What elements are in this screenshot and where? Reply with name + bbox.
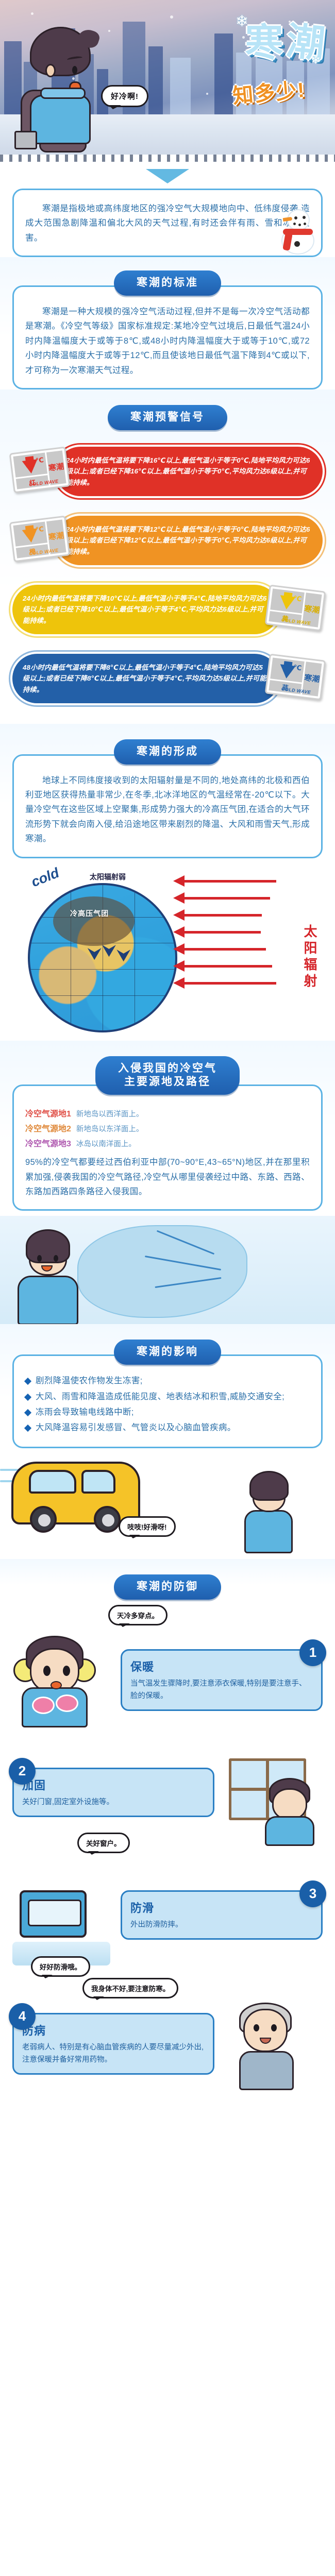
defense-section: 寒潮的防御: [0, 1559, 335, 1603]
defense-number-1: 1: [299, 1639, 326, 1666]
defense-speech-1: 天冷多穿点。: [108, 1605, 167, 1625]
impact-item-1: 剧烈降温使农作物发生冻害;: [25, 1374, 310, 1388]
source-value-1: 新地岛以西洋面上。: [76, 1108, 144, 1119]
defense-box-4: 4 防病 老弱病人、特别是有心脑血管疾病的人要尽量减少外出,注意保暖并备好常用药…: [12, 2013, 214, 2075]
footer-spacer: [0, 2096, 335, 2111]
standard-section: 寒潮的标准 寒潮是一种大规模的强冷空气活动过程,但并不是每一次冷空气活动都是寒潮…: [0, 257, 335, 389]
sources-section: 入侵我国的冷空气 主要源地及路径 冷空气源地1 新地岛以西洋面上。 冷空气源地2…: [0, 1041, 335, 1211]
defense-text-1: 当气温发生骤降时,要注意添衣保暖,特别是要注意手、脸的保暖。: [130, 1677, 313, 1702]
infographic-page: 好冷啊! ❄ 寒 潮 ❄ 知多少! 寒潮是指极地或高纬度地区的强冷空气大规模地向…: [0, 0, 335, 2111]
defense-title-4: 防病: [22, 2022, 205, 2038]
impact-item-3: 冻雨会导致输电线路中断;: [25, 1405, 310, 1419]
defense-item-4: 4 防病 老弱病人、特别是有心脑血管疾病的人要尽量减少外出,注意保暖并备好常用药…: [0, 1974, 335, 2096]
cold-label: cold: [29, 865, 61, 890]
boy-with-map-icon: [8, 1226, 86, 1324]
standard-heading: 寒潮的标准: [114, 270, 221, 296]
defense-item-3: 3 防滑 外出防滑防摔。 好好防滑哦。: [0, 1851, 335, 1974]
warning-card-blue: ℃ 寒潮 蓝 COLD WAVE 48小时内最低气温将要下降8℃以上,最低气温小…: [12, 654, 323, 715]
intro-card: 寒潮是指极地或高纬度地区的强冷空气大规模地向中、低纬度侵袭,造成大范围急剧降温和…: [12, 189, 323, 257]
warning-card-orange: ℃ 寒潮 橙 COLD WAVE 24小时内最低气温将要下降12℃以上,最低气温…: [12, 516, 323, 577]
snowflake-icon: ❄: [236, 12, 248, 30]
source-item: 冷空气源地2 新地岛以东洋面上。: [25, 1122, 310, 1134]
defense-speech-text-3: 好好防滑哦。: [40, 1963, 81, 1971]
source-value-3: 冰岛以南洋面上。: [76, 1138, 136, 1149]
defense-number-4: 4: [9, 2003, 36, 2030]
warning-sign-blue: ℃ 寒潮 蓝 COLD WAVE: [265, 653, 326, 700]
cold-air-mass-label: 冷高压气团: [49, 908, 130, 919]
warning-card-yellow: ℃ 寒潮 黄 COLD WAVE 24小时内最低气温将要下降10℃以上,最低气温…: [12, 585, 323, 646]
warning-sign-yellow: ℃ 寒潮 黄 COLD WAVE: [265, 584, 326, 631]
formation-heading: 寒潮的形成: [114, 739, 221, 765]
hero-title: ❄ 寒 潮 ❄: [245, 25, 326, 61]
formation-section: 寒潮的形成 地球上不同纬度接收到的太阳辐射量是不同的,地处高纬的北极和西伯利亚地…: [0, 724, 335, 858]
sources-heading: 入侵我国的冷空气 主要源地及路径: [95, 1056, 240, 1095]
hero-title-char1: 寒: [245, 25, 284, 61]
warning-text-red: 24小时内最低气温将要下降16℃以上,最低气温小于等于0℃,陆地平均风力可达6级…: [56, 447, 323, 496]
source-item: 冷空气源地1 新地岛以西洋面上。: [25, 1107, 310, 1119]
car-speech-bubble: 吱吱!好滑呀!: [119, 1516, 176, 1537]
source-key-2: 冷空气源地2: [25, 1122, 71, 1134]
window-icon: [220, 1754, 323, 1846]
warning-sign-orange: ℃ 寒潮 橙 COLD WAVE: [9, 515, 71, 562]
down-arrow-icon: [146, 169, 189, 183]
snowflake-icon-2: ❄: [311, 54, 321, 67]
heater-icon: [12, 1877, 115, 1969]
defense-text-4: 老弱病人、特别是有心脑血管疾病的人要尽量减少外出,注意保暖并备好常用药物。: [22, 2041, 205, 2066]
hero-title-char2: 潮: [285, 23, 328, 63]
standard-text: 寒潮是一种大规模的强冷空气活动过程,但并不是每一次冷空气活动都是寒潮。《冷空气等…: [25, 304, 310, 378]
intro-section: 寒潮是指极地或高纬度地区的强冷空气大规模地向中、低纬度侵袭,造成大范围急剧降温和…: [0, 189, 335, 257]
impact-section: 寒潮的影响 剧烈降温使农作物发生冻害; 大风、雨雪和降温造成低能见度、地表结冰和…: [0, 1324, 335, 1448]
source-key-1: 冷空气源地1: [25, 1107, 71, 1119]
snow-edge-divider: [0, 155, 335, 162]
boy-character: [15, 22, 113, 150]
defense-box-2: 2 加固 关好门窗,固定室外设施等。: [12, 1768, 214, 1817]
impact-list: 剧烈降温使农作物发生冻害; 大风、雨雪和降温造成低能见度、地表结冰和积雪,威胁交…: [25, 1374, 310, 1435]
slippery-road-scene: 吱吱!好滑呀!: [0, 1448, 335, 1559]
down-arrow-icon-2: ⮟: [103, 943, 116, 960]
warning-text-yellow: 24小时内最低气温将要下降10℃以上,最低气温小于等于4℃,陆地平均风力可达6级…: [12, 585, 279, 634]
defense-speech-4: 我身体不好,要注意防寒。: [82, 1978, 178, 1998]
elderly-woman-icon: [220, 1999, 323, 2091]
warning-text-orange: 24小时内最低气温将要下降12℃以上,最低气温小于等于0℃,陆地平均风力可达6级…: [56, 516, 323, 565]
source-key-3: 冷空气源地3: [25, 1137, 71, 1149]
impact-card: 剧烈降温使农作物发生冻害; 大风、雨雪和降温造成低能见度、地表结冰和积雪,威胁交…: [12, 1354, 323, 1448]
warning-sign-red: ℃ 寒潮 红 COLD WAVE: [9, 446, 71, 493]
car-icon: [11, 1462, 140, 1524]
sources-card: 冷空气源地1 新地岛以西洋面上。 冷空气源地2 新地岛以东洋面上。 冷空气源地3…: [12, 1084, 323, 1211]
hero-subtitle: 知多少!: [231, 73, 306, 109]
intro-text: 寒潮是指极地或高纬度地区的强冷空气大规模地向中、低纬度侵袭,造成大范围急剧降温和…: [25, 201, 310, 245]
sun-ray-arrows: [183, 880, 287, 999]
defense-number-3: 3: [299, 1880, 326, 1907]
defense-item-1: 天冷多穿点。 1 保暖 当气温发生骤降时,要注意添衣保暖,特别: [0, 1603, 335, 1733]
boy-slipping-icon: [237, 1471, 299, 1553]
sign-cn-blue: 寒潮: [304, 674, 320, 684]
defense-speech-2: 关好窗户。: [77, 1833, 130, 1853]
down-arrow-icon-1: ⮟: [88, 946, 102, 963]
defense-number-2: 2: [9, 1758, 36, 1785]
warning-heading: 寒潮预警信号: [108, 405, 227, 430]
child-with-earmuffs-icon: [12, 1636, 115, 1727]
globe-diagram: cold 太阳辐射弱 冷高压气团 ⮟ ⮟ ⮟: [0, 868, 335, 1038]
sign-cn-red: 寒潮: [48, 463, 64, 472]
snowman-icon: [279, 209, 317, 253]
source-value-2: 新地岛以东洋面上。: [76, 1123, 144, 1134]
defense-speech-text-1: 天冷多穿点。: [117, 1612, 159, 1620]
sources-heading-line2: 主要源地及路径: [124, 1076, 211, 1088]
standard-card: 寒潮是一种大规模的强冷空气活动过程,但并不是每一次冷空气活动都是寒潮。《冷空气等…: [12, 285, 323, 389]
impact-item-4: 大风降温容易引发感冒、气管炎以及心脑血管疾病。: [25, 1420, 310, 1435]
earth-globe-icon: 冷高压气团 ⮟ ⮟ ⮟: [28, 883, 177, 1032]
defense-item-2: 2 加固 关好门窗,固定室外设施等。 关好窗户。: [0, 1733, 335, 1851]
defense-box-3: 3 防滑 外出防滑防摔。: [121, 1890, 323, 1940]
defense-speech-text-2: 关好窗户。: [86, 1840, 121, 1848]
map-shape: [77, 1225, 247, 1318]
warning-text-blue: 48小时内最低气温将要下降8℃以上,最低气温小于等于4℃,陆地平均风力可达5级以…: [12, 654, 279, 703]
warning-card-red: ℃ 寒潮 红 COLD WAVE 24小时内最低气温将要下降16℃以上,最低气温…: [12, 447, 323, 507]
car-speech-text: 吱吱!好滑呀!: [127, 1523, 167, 1531]
down-arrow-icon-3: ⮟: [117, 947, 130, 965]
defense-title-3: 防滑: [130, 1899, 313, 1916]
hero-speech-text: 好冷啊!: [111, 92, 139, 101]
defense-title-1: 保暖: [130, 1658, 313, 1674]
warning-section: 寒潮预警信号 ℃ 寒潮 红 COLD WAVE 24小时内最低气温将要下降16℃…: [0, 389, 335, 724]
source-item: 冷空气源地3 冰岛以南洋面上。: [25, 1137, 310, 1149]
hero-banner: 好冷啊! ❄ 寒 潮 ❄ 知多少!: [0, 0, 335, 155]
radiation-weak-label: 太阳辐射弱: [90, 872, 126, 882]
sun-radiation-label: 太阳辐射: [300, 924, 320, 990]
sign-cn-yellow: 寒潮: [304, 605, 320, 615]
formation-text: 地球上不同纬度接收到的太阳辐射量是不同的,地处高纬的北极和西伯利亚地区获得热量非…: [25, 773, 310, 846]
defense-box-1: 1 保暖 当气温发生骤降时,要注意添衣保暖,特别是要注意手、脸的保暖。: [121, 1649, 323, 1711]
hero-speech-bubble: 好冷啊!: [101, 85, 148, 107]
sources-heading-line1: 入侵我国的冷空气: [118, 1062, 217, 1074]
formation-card: 地球上不同纬度接收到的太阳辐射量是不同的,地处高纬的北极和西伯利亚地区获得热量非…: [12, 754, 323, 858]
impact-heading: 寒潮的影响: [114, 1340, 221, 1365]
impact-item-2: 大风、雨雪和降温造成低能见度、地表结冰和积雪,威胁交通安全;: [25, 1389, 310, 1404]
sources-summary: 95%的冷空气都要经过西伯利亚中部(70~90°E,43~65°N)地区,并在那…: [25, 1155, 310, 1199]
defense-text-2: 关好门窗,固定室外设施等。: [22, 1796, 205, 1808]
defense-speech-text-4: 我身体不好,要注意防寒。: [91, 1985, 170, 1993]
china-map-illustration: [0, 1216, 335, 1324]
defense-heading: 寒潮的防御: [114, 1574, 221, 1600]
sign-cn-orange: 寒潮: [48, 532, 64, 541]
defense-title-2: 加固: [22, 1776, 205, 1793]
defense-text-3: 外出防滑防摔。: [130, 1919, 313, 1931]
